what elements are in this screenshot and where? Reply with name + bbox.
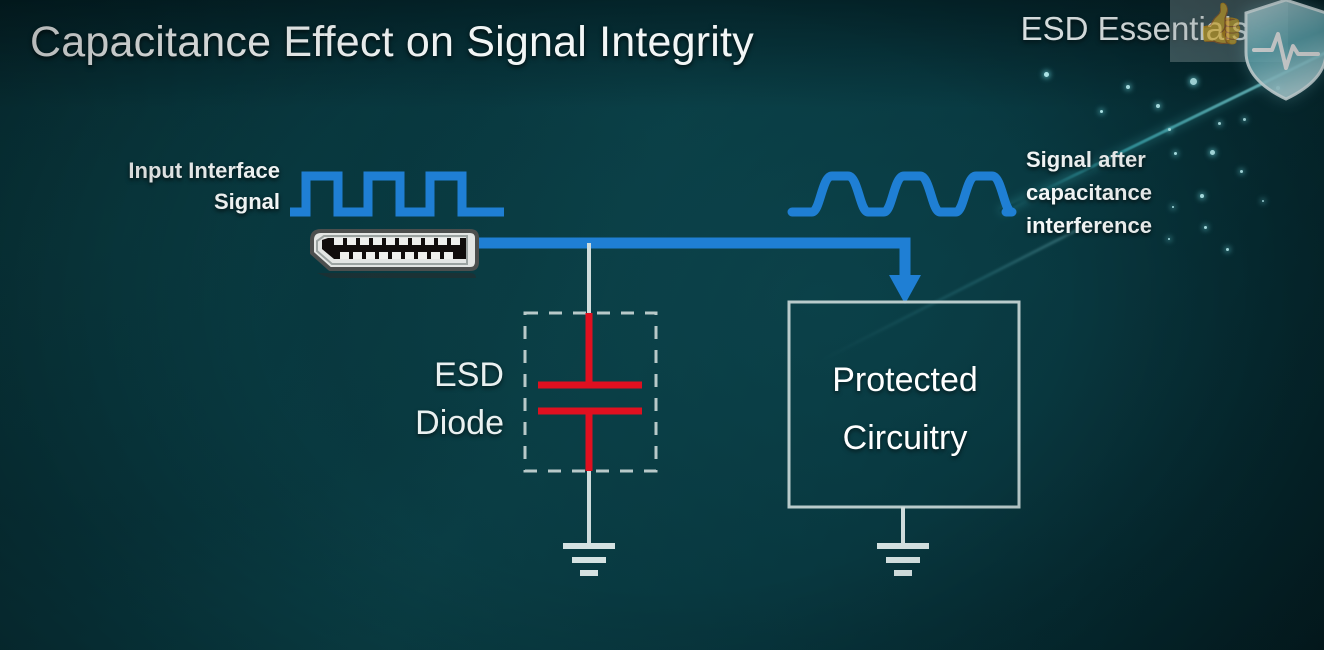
esd-diode-label-line1: ESD xyxy=(372,352,504,400)
input-waveform-clean xyxy=(290,176,504,212)
capacitor-symbol-icon xyxy=(538,313,642,471)
esd-diode-label-line2: Diode xyxy=(372,400,504,448)
output-waveform-degraded xyxy=(792,176,1012,212)
ground-symbol-icon-right xyxy=(877,507,929,573)
hdmi-connector-icon xyxy=(312,231,477,278)
ground-symbol-icon-left xyxy=(563,546,615,573)
schematic-diagram xyxy=(0,0,1324,650)
slide-canvas: Capacitance Effect on Signal Integrity E… xyxy=(0,0,1324,650)
protected-circuitry-label: Protected Circuitry xyxy=(792,352,1018,468)
protected-circuitry-label-line2: Circuitry xyxy=(792,410,1018,468)
signal-arrow-icon xyxy=(470,243,921,304)
protected-circuitry-label-line1: Protected xyxy=(792,352,1018,410)
esd-diode-label: ESD Diode xyxy=(372,352,504,447)
